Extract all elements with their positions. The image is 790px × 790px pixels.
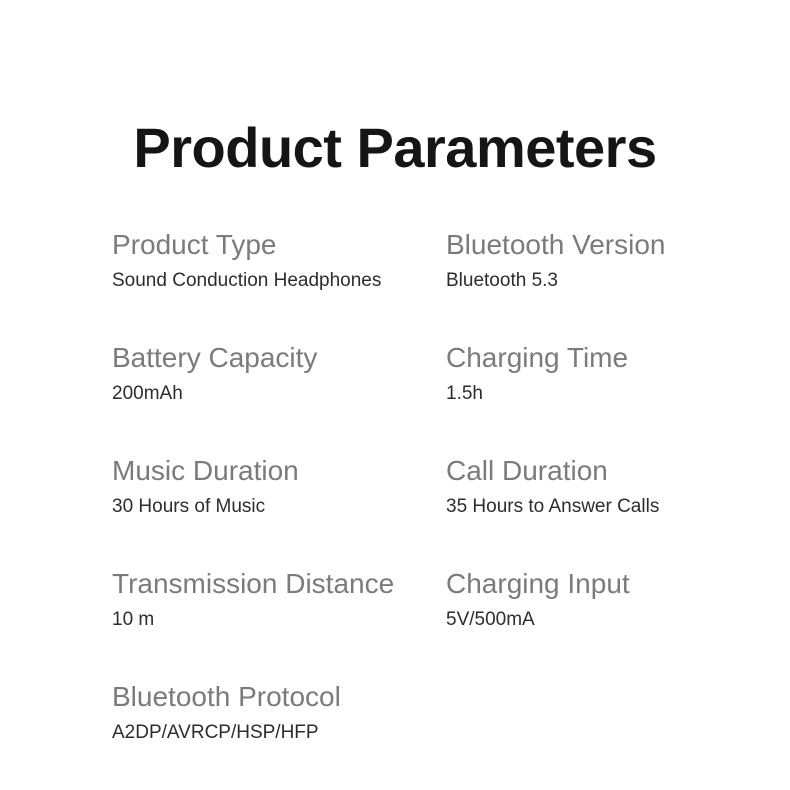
spec-label: Call Duration	[446, 454, 706, 488]
spec-value: 30 Hours of Music	[112, 495, 440, 518]
spec-item-charging-input: Charging Input 5V/500mA	[446, 567, 712, 631]
spec-value: A2DP/AVRCP/HSP/HFP	[112, 721, 440, 744]
spec-row: Product Type Sound Conduction Headphones…	[112, 228, 712, 341]
spec-row: Bluetooth Protocol A2DP/AVRCP/HSP/HFP	[112, 680, 712, 790]
spec-row: Music Duration 30 Hours of Music Call Du…	[112, 454, 712, 567]
spec-row: Battery Capacity 200mAh Charging Time 1.…	[112, 341, 712, 454]
spec-item-music-duration: Music Duration 30 Hours of Music	[112, 454, 446, 518]
specifications-grid: Product Type Sound Conduction Headphones…	[112, 228, 712, 790]
spec-item-bluetooth-version: Bluetooth Version Bluetooth 5.3	[446, 228, 712, 292]
spec-item-bluetooth-protocol: Bluetooth Protocol A2DP/AVRCP/HSP/HFP	[112, 680, 446, 744]
product-parameters-page: Product Parameters Product Type Sound Co…	[0, 0, 790, 790]
spec-label: Battery Capacity	[112, 341, 440, 375]
spec-item-product-type: Product Type Sound Conduction Headphones	[112, 228, 446, 292]
spec-label: Charging Input	[446, 567, 706, 601]
spec-label: Bluetooth Protocol	[112, 680, 440, 714]
page-title: Product Parameters	[0, 116, 790, 180]
spec-value: 5V/500mA	[446, 608, 706, 631]
spec-item-battery-capacity: Battery Capacity 200mAh	[112, 341, 446, 405]
spec-label: Transmission Distance	[112, 567, 440, 601]
spec-row: Transmission Distance 10 m Charging Inpu…	[112, 567, 712, 680]
spec-value: Bluetooth 5.3	[446, 269, 706, 292]
spec-label: Music Duration	[112, 454, 440, 488]
spec-item-transmission-distance: Transmission Distance 10 m	[112, 567, 446, 631]
spec-value: 200mAh	[112, 382, 440, 405]
spec-item-charging-time: Charging Time 1.5h	[446, 341, 712, 405]
spec-label: Product Type	[112, 228, 440, 262]
spec-label: Bluetooth Version	[446, 228, 706, 262]
spec-label: Charging Time	[446, 341, 706, 375]
spec-value: 35 Hours to Answer Calls	[446, 495, 706, 518]
spec-value: 1.5h	[446, 382, 706, 405]
spec-item-call-duration: Call Duration 35 Hours to Answer Calls	[446, 454, 712, 518]
spec-value: Sound Conduction Headphones	[112, 269, 440, 292]
spec-value: 10 m	[112, 608, 440, 631]
